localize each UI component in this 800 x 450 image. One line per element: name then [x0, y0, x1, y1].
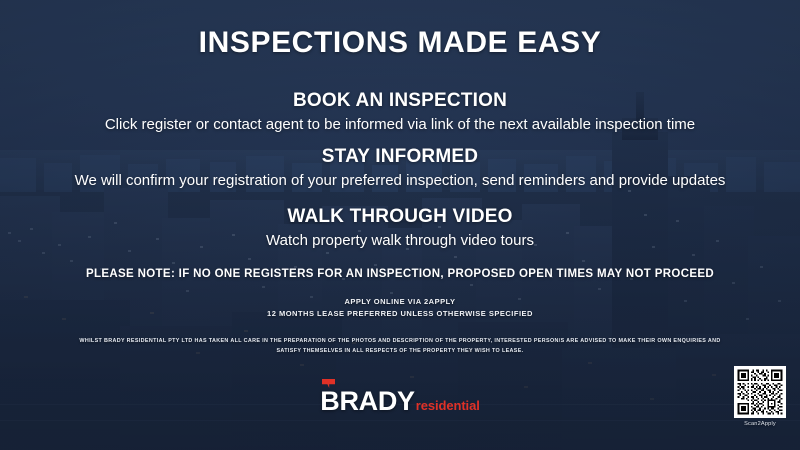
lease-term-line: 12 MONTHS LEASE PREFERRED UNLESS OTHERWI…: [0, 308, 800, 320]
red-flag-icon: [322, 379, 335, 388]
logo-primary-text: BRADY: [320, 388, 415, 415]
section-walk-through-video: WALK THROUGH VIDEO Watch property walk t…: [0, 206, 800, 249]
slide-content: INSPECTIONS MADE EASY BOOK AN INSPECTION…: [0, 0, 800, 450]
section-stay-informed: STAY INFORMED We will confirm your regis…: [0, 146, 800, 189]
apply-online-line: APPLY ONLINE VIA 2APPLY: [0, 296, 800, 308]
qr-code-icon[interactable]: [734, 366, 786, 418]
legal-disclaimer: WHILST BRADY RESIDENTIAL PTY LTD HAS TAK…: [70, 337, 730, 356]
section-heading: STAY INFORMED: [0, 146, 800, 168]
scan-to-apply-block[interactable]: Scan2Apply: [734, 366, 786, 427]
apply-info-block: APPLY ONLINE VIA 2APPLY 12 MONTHS LEASE …: [0, 296, 800, 320]
section-heading: BOOK AN INSPECTION: [0, 90, 800, 112]
please-note-notice: PLEASE NOTE: IF NO ONE REGISTERS FOR AN …: [0, 268, 800, 280]
section-heading: WALK THROUGH VIDEO: [0, 206, 800, 228]
section-book-an-inspection: BOOK AN INSPECTION Click register or con…: [0, 90, 800, 133]
section-subtext: We will confirm your registration of you…: [0, 172, 800, 189]
page-title: INSPECTIONS MADE EASY: [0, 26, 800, 60]
qr-caption: Scan2Apply: [744, 421, 776, 427]
logo-secondary-text: residential: [416, 399, 480, 412]
brady-residential-logo: BRADY residential: [0, 388, 800, 415]
section-subtext: Click register or contact agent to be in…: [0, 116, 800, 133]
section-subtext: Watch property walk through video tours: [0, 232, 800, 249]
